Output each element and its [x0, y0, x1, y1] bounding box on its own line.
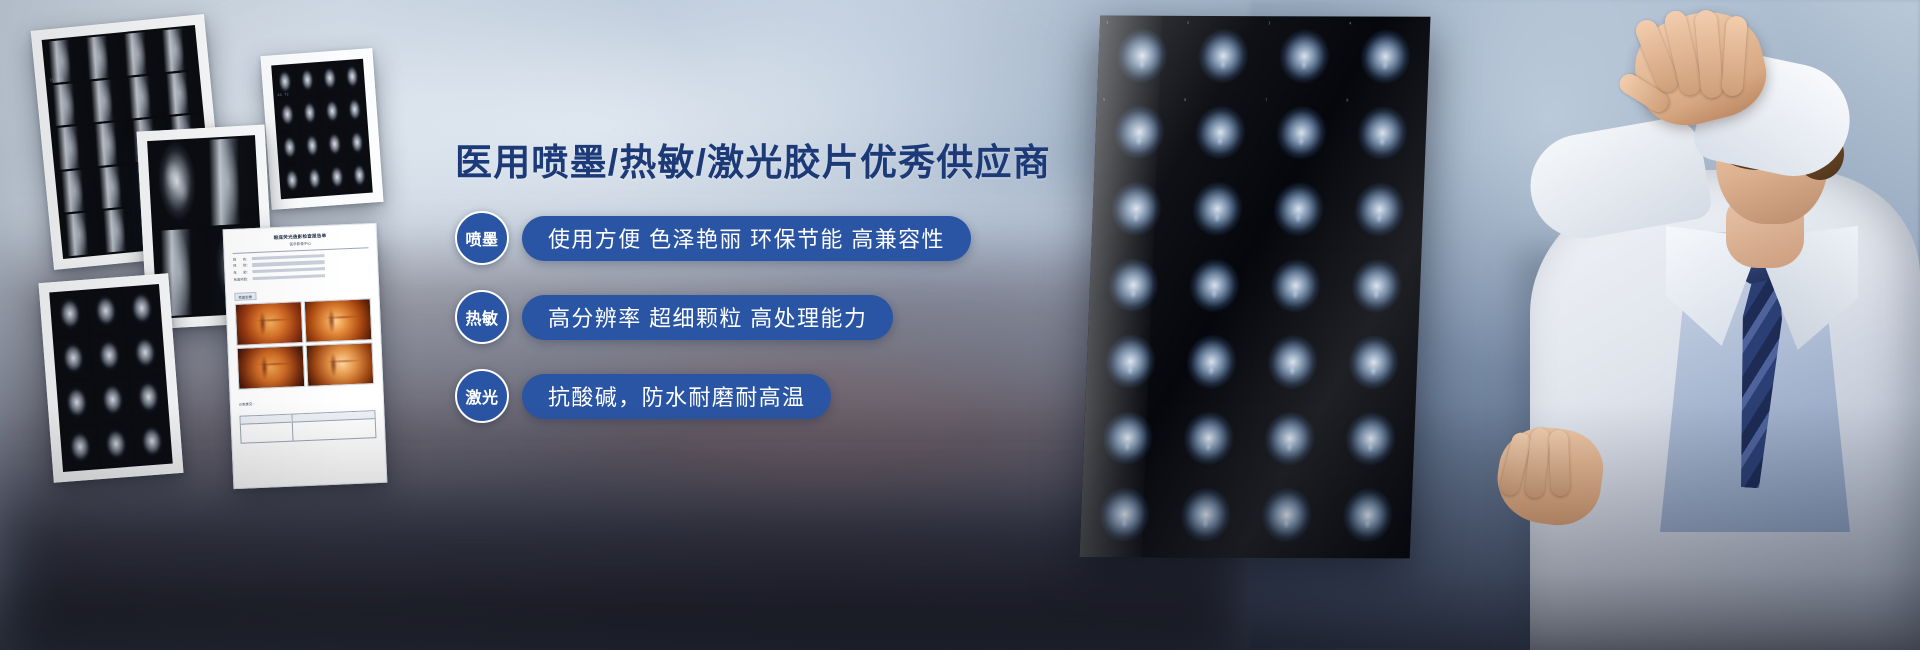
report-field-label: 姓 名： [233, 256, 250, 262]
signature-column-left [240, 415, 293, 443]
scan-cell [296, 64, 319, 96]
scan-cell [55, 336, 92, 381]
signature-header-left [240, 415, 291, 425]
scan-cell [276, 99, 299, 131]
scan-cell [318, 63, 341, 95]
mri-slice [1246, 479, 1328, 554]
scan-cell [149, 140, 205, 229]
scan-cell [298, 97, 321, 129]
mri-slice [1258, 173, 1340, 248]
film-emulsion-area [49, 284, 172, 472]
feature-row-thermal: 热敏 高分辨率 超细颗粒 高处理能力 [455, 290, 1095, 344]
scan-cell [348, 160, 371, 192]
mri-slice [1165, 479, 1247, 554]
mri-slice: 2 [1182, 20, 1264, 95]
mri-slice [1090, 326, 1172, 401]
film-emulsion-area: AX T2 [271, 59, 373, 199]
mri-image-grid: 1 2 3 4 5 6 7 8 [1079, 16, 1430, 559]
scan-cell [58, 380, 95, 425]
mri-slice [1084, 479, 1166, 554]
mri-slice [1176, 173, 1258, 248]
fundus-image [304, 298, 372, 343]
scan-cell [157, 27, 197, 72]
mri-slice: 8 [1341, 97, 1423, 172]
mri-slice-index: 7 [1265, 98, 1267, 102]
mri-slice-index: 2 [1187, 21, 1189, 25]
mri-slice [1255, 250, 1337, 325]
signature-column-right [292, 411, 375, 440]
doctor-photo: 1 2 3 4 5 6 7 8 [1230, 0, 1920, 650]
held-mri-film: 1 2 3 4 5 6 7 8 [1079, 16, 1430, 559]
report-image-grid [235, 298, 375, 390]
scan-cell [343, 94, 366, 126]
mri-slice [1339, 174, 1421, 249]
mri-slice: 5 [1098, 96, 1180, 171]
mri-slice [1249, 403, 1331, 478]
feature-row-laser: 激光 抗酸碱，防水耐磨耐高温 [455, 369, 1095, 423]
scan-cell [278, 132, 301, 164]
film-image-grid: AX T2 [271, 59, 373, 199]
hero-banner: T1 SAG [0, 0, 1920, 650]
scan-cell [94, 165, 134, 210]
signature-header-right [292, 411, 374, 422]
scan-cell [94, 378, 131, 423]
scan-cell: AX T2 [273, 66, 296, 98]
mri-slice-index: 5 [1103, 97, 1105, 101]
mri-slice: 7 [1260, 97, 1342, 172]
mri-slice-index: 3 [1268, 21, 1270, 25]
vessel-overlay [236, 302, 302, 345]
finger [1549, 430, 1570, 497]
scan-cell [90, 121, 130, 166]
film-image-grid [49, 284, 172, 472]
mri-slice-index: 4 [1349, 21, 1351, 25]
feature-badge-thermal[interactable]: 热敏 [455, 290, 509, 344]
mri-slice [1336, 250, 1418, 325]
scan-cell [127, 331, 164, 376]
scan-cell [301, 130, 324, 162]
scan-cell [62, 425, 99, 470]
report-field-label: 检查项目： [234, 276, 251, 282]
mri-slice-index: 1 [1106, 21, 1108, 25]
scan-cell [61, 212, 101, 257]
scan-cell [321, 96, 344, 128]
mri-slice [1252, 326, 1334, 401]
mri-film-brain-series: AX T2 [261, 48, 384, 210]
scan-cell [51, 292, 88, 337]
mri-slice: 4 [1344, 20, 1426, 95]
mri-slice [1330, 403, 1412, 478]
scan-cell [52, 125, 92, 170]
fundus-image [237, 345, 305, 390]
scan-cell [123, 286, 160, 331]
report-field-list: 姓 名： 性 别： 年 龄： 检查项目： [233, 251, 370, 281]
medical-film-stack: T1 SAG [0, 0, 480, 560]
fundus-image [306, 342, 374, 387]
scan-cell [57, 168, 97, 213]
scan-cell [86, 78, 126, 123]
fundus-image [235, 301, 303, 346]
feature-row-inkjet: 喷墨 使用方便 色泽艳丽 环保节能 高兼容性 [455, 211, 1095, 265]
report-signature-table [239, 410, 376, 444]
mri-slice [1092, 249, 1174, 324]
mri-slice-index: 8 [1346, 98, 1348, 102]
scan-cell [341, 61, 364, 93]
scan-cell [133, 419, 170, 464]
scan-cell [202, 137, 258, 226]
scan-cell-label: T1 SAG [49, 77, 63, 82]
report-field-label: 性 别： [233, 263, 250, 269]
scan-cell [48, 82, 88, 127]
feature-list: 喷墨 使用方便 色泽艳丽 环保节能 高兼容性 热敏 高分辨率 超细颗粒 高处理能… [455, 211, 1095, 423]
scan-cell [98, 422, 135, 467]
feature-pill-laser[interactable]: 抗酸碱，防水耐磨耐高温 [522, 374, 831, 419]
scan-cell [87, 289, 124, 334]
vessel-overlay [305, 299, 371, 342]
vessel-overlay [238, 346, 304, 389]
scan-cell [124, 74, 164, 119]
scan-cell [119, 31, 159, 76]
feature-badge-laser[interactable]: 激光 [455, 369, 509, 423]
mri-slice: 3 [1263, 20, 1345, 95]
mri-film-brain-grid [39, 273, 184, 482]
report-field-label: 年 龄： [233, 269, 250, 275]
feature-badge-inkjet[interactable]: 喷墨 [455, 211, 509, 265]
mri-slice [1327, 480, 1409, 555]
scan-cell [323, 128, 346, 160]
scan-cell [162, 71, 202, 116]
scan-cell [281, 165, 304, 197]
mri-slice [1168, 402, 1250, 477]
report-note-label: 诊断意见： [239, 402, 256, 407]
report-section-header-images: 检查影像 [234, 292, 256, 301]
feature-pill-inkjet[interactable]: 使用方便 色泽艳丽 环保节能 高兼容性 [522, 216, 971, 261]
scan-cell [346, 127, 369, 159]
scan-cell-label: AX T2 [277, 92, 289, 97]
mri-slice [1087, 402, 1169, 477]
mri-slice [1174, 249, 1256, 324]
feature-pill-thermal[interactable]: 高分辨率 超细颗粒 高处理能力 [522, 295, 893, 340]
vessel-overlay [307, 343, 373, 386]
printed-report-sheet: 眼底荧光造影检查报告单 医学影像中心 姓 名： 性 别： 年 龄： 检查项目： [223, 223, 388, 489]
page-title: 医用喷墨/热敏/激光胶片优秀供应商 [455, 140, 1095, 185]
scan-cell [82, 35, 122, 80]
scan-cell [325, 161, 348, 193]
report-note-block: 诊断意见： [238, 387, 375, 411]
scan-cell [99, 208, 139, 253]
mri-slice-index: 6 [1184, 97, 1186, 101]
mri-slice [1171, 326, 1253, 401]
scan-cell: T1 SAG [44, 38, 84, 83]
mri-slice: 1 [1101, 20, 1183, 95]
hero-content: 医用喷墨/热敏/激光胶片优秀供应商 喷墨 使用方便 色泽艳丽 环保节能 高兼容性… [455, 140, 1095, 423]
mri-slice [1333, 327, 1415, 402]
scan-cell [91, 333, 128, 378]
scan-cell [130, 375, 167, 420]
mri-slice: 6 [1179, 96, 1261, 171]
mri-slice [1095, 173, 1177, 248]
scan-cell [303, 163, 326, 195]
